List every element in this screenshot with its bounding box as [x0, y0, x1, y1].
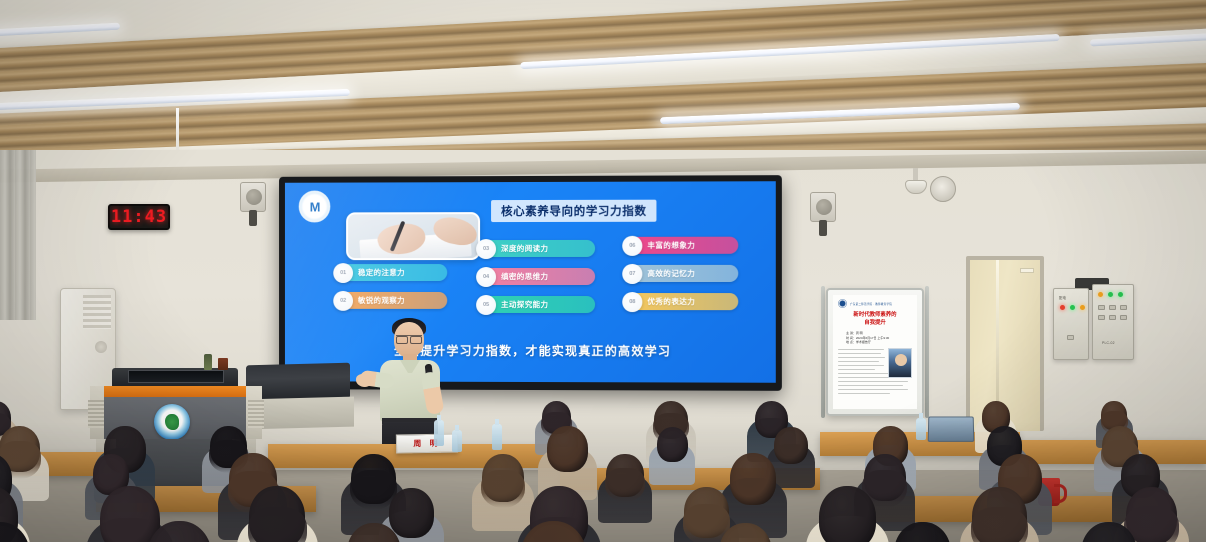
slide-pill-05: 05主动探究能力: [479, 296, 595, 313]
school-crest-icon: [154, 404, 190, 440]
lecture-hall-photo: 11:43 M 核心素养导向的学习力指数 01稳定的注意力02敏锐的观察力03深…: [0, 0, 1206, 542]
poster-header: 广东第二师范学院 · 教师教育学院: [838, 299, 912, 308]
pill-number-badge: 06: [622, 235, 642, 255]
pill-label: 稳定的注意力: [358, 267, 405, 278]
presenter-hand: [356, 374, 372, 387]
water-bottle: [452, 430, 462, 452]
slide-pill-group: 01稳定的注意力02敏锐的观察力03深度的阅读力04缜密的思维力05主动探究能力…: [285, 181, 776, 183]
audience-member-head: [730, 453, 776, 505]
door-plate: [1020, 268, 1034, 273]
audience-member-hair: [248, 507, 307, 542]
clock-time: 11:43: [111, 207, 167, 227]
audience-member-head: [774, 427, 807, 465]
ac-vent-grille: [83, 295, 111, 329]
ceiling-fan-unit: [930, 176, 956, 202]
audience-member-head: [389, 488, 434, 538]
slide-logo-icon: M: [299, 191, 331, 223]
bottle: [204, 354, 212, 370]
electrical-panel-right[interactable]: PLC-02: [1092, 284, 1134, 360]
poster-body: [838, 349, 912, 394]
water-bottle: [916, 418, 926, 440]
panel-switch[interactable]: [1067, 335, 1074, 340]
speaker-portrait: [888, 348, 912, 378]
slide-logo-text: M: [310, 199, 320, 214]
slide-pill-04: 04缜密的思维力: [479, 268, 595, 285]
pill-label: 缜密的思维力: [501, 271, 548, 282]
pill-label: 高效的记忆力: [647, 268, 695, 279]
audience-member-hair: [971, 507, 1028, 542]
standee-rail: [925, 286, 929, 418]
slide-pill-03: 03深度的阅读力: [479, 240, 595, 257]
poster-title-line1: 新时代教师素养的: [838, 312, 912, 319]
desk-nameplate: 周 明: [396, 433, 458, 453]
lectern-vent: [248, 400, 264, 428]
pill-number-badge: 01: [333, 263, 353, 283]
slide-pill-06: 06丰富的想象力: [625, 237, 738, 254]
pill-number-badge: 05: [476, 294, 496, 314]
pill-number-badge: 02: [333, 290, 353, 310]
speaker-mount: [819, 220, 827, 236]
electrical-panel-left[interactable]: 配电: [1053, 288, 1089, 360]
lectern-vent: [88, 400, 104, 428]
wall-speaker: [810, 192, 836, 222]
glasses-icon: [396, 335, 422, 341]
panel-switch[interactable]: [1098, 315, 1105, 320]
panel-label-left: 配电: [1059, 295, 1066, 300]
window-curtain: [0, 150, 36, 320]
slide-pill-01: 01稳定的注意力: [336, 264, 447, 281]
water-bottle: [434, 420, 444, 446]
audience-member-head: [657, 427, 689, 463]
pill-number-badge: 07: [622, 263, 642, 283]
panel-switch[interactable]: [1109, 305, 1116, 310]
audience-member-head: [819, 486, 876, 542]
panel-switch[interactable]: [1109, 315, 1116, 320]
slide-photo-hands-writing: [346, 212, 480, 260]
audience-member-hair: [481, 470, 526, 508]
indicator-led-green: [1070, 305, 1075, 310]
slide-title: 核心素养导向的学习力指数: [491, 200, 657, 222]
audience-member-hair: [605, 468, 644, 502]
pill-label: 优秀的表达力: [647, 296, 695, 307]
panel-label-right: PLC-02: [1102, 341, 1115, 345]
pill-label: 深度的阅读力: [501, 243, 548, 254]
pill-number-badge: 04: [476, 267, 496, 287]
indicator-led-red: [1060, 305, 1065, 310]
pill-label: 敏锐的观察力: [358, 295, 405, 306]
poster-standee: 广东第二师范学院 · 教师教育学院 新时代教师素养的 自我提升 主 讲：周 明 …: [826, 288, 924, 416]
pill-label: 主动探究能力: [501, 299, 548, 310]
slide-pill-07: 07高效的记忆力: [625, 265, 738, 282]
pill-label: 丰富的想象力: [647, 240, 695, 251]
standee-rail: [821, 286, 825, 418]
slide-pill-08: 08优秀的表达力: [625, 293, 738, 310]
poster-surface: 广东第二师范学院 · 教师教育学院 新时代教师素养的 自我提升 主 讲：周 明 …: [833, 295, 917, 409]
wall-speaker: [240, 182, 266, 212]
indicator-led-green: [1108, 292, 1113, 297]
wall-digital-clock: 11:43: [108, 204, 170, 230]
lectern-monitor[interactable]: [128, 370, 224, 383]
audience-member-head: [100, 486, 160, 542]
university-logo-icon: [838, 299, 847, 308]
ac-logo: [95, 341, 107, 353]
indicator-led-amber: [1080, 305, 1085, 310]
indicator-led-green: [1118, 292, 1123, 297]
water-bottle: [492, 424, 502, 450]
panel-switch[interactable]: [1098, 305, 1105, 310]
laptop[interactable]: [928, 416, 975, 441]
poster-title-line2: 自我提升: [838, 320, 912, 327]
panel-switch[interactable]: [1120, 315, 1127, 320]
cup: [218, 358, 228, 370]
pill-number-badge: 08: [622, 292, 642, 312]
indicator-led-amber: [1098, 292, 1103, 297]
pill-number-badge: 03: [476, 239, 496, 259]
poster-org: 广东第二师范学院 · 教师教育学院: [850, 302, 892, 306]
poster-meta-2: 地 点：学术报告厅: [838, 340, 912, 345]
audience-member-head: [547, 426, 588, 472]
speaker-mount: [249, 210, 257, 226]
slide-pill-02: 02敏锐的观察力: [336, 292, 447, 309]
lectern-accent-stripe: [104, 386, 246, 397]
panel-switch[interactable]: [1120, 305, 1127, 310]
